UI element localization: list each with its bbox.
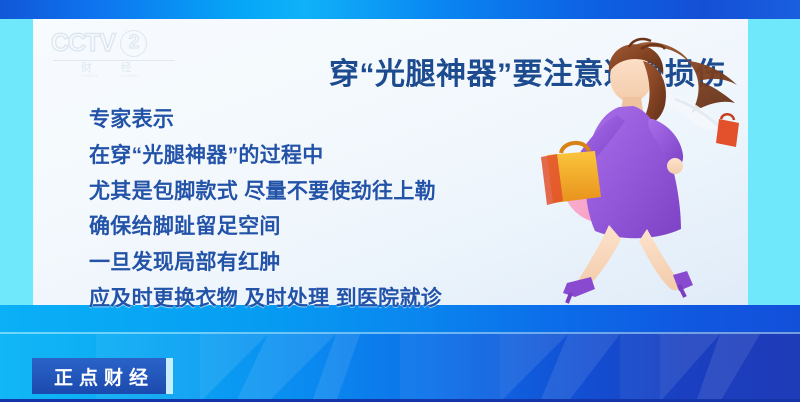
cctv-logo-sub-en-right: CHANNEL: [121, 74, 140, 78]
program-tag-cap: [166, 358, 173, 394]
cctv-logo-text: CCTV: [51, 29, 115, 58]
cctv2-logo: CCTV 2 财 FINANCE 经 CHANNEL: [51, 29, 191, 85]
body-line: 确保给脚趾留足空间: [89, 212, 442, 242]
cctv-logo-sub-en-left: FINANCE: [81, 74, 99, 78]
woman-walking-illustration: [523, 27, 748, 305]
right-hand: [667, 158, 683, 174]
body-line: 尤其是包脚款式 尽量不要使劲往上勒: [89, 177, 442, 207]
program-tag: 正点财经: [32, 358, 170, 394]
small-handbag: [716, 119, 739, 147]
cctv-logo-rule: [53, 60, 175, 61]
cctv-logo-number: 2: [120, 30, 147, 57]
front-leg: [639, 229, 680, 290]
top-gradient-bar: [0, 0, 800, 19]
body-line: 专家表示: [89, 105, 442, 135]
body-line: 应及时更换衣物 及时处理 到医院就诊: [89, 284, 442, 314]
body-line: 在穿“光腿神器”的过程中: [89, 141, 442, 171]
left-cyan-band: [0, 19, 33, 305]
cctv-logo-wordmark: CCTV 2: [51, 29, 191, 58]
small-handbag-handle: [721, 114, 734, 120]
program-tag-label: 正点财经: [48, 363, 154, 390]
cctv-logo-subtitle: 财 FINANCE 经 CHANNEL: [51, 63, 191, 78]
broadcast-screen: CCTV 2 财 FINANCE 经 CHANNEL 穿“光腿神器”要注意避免损…: [0, 0, 800, 402]
dress-body: [585, 106, 681, 238]
right-cyan-band: [748, 19, 800, 305]
back-shoe: [563, 277, 595, 297]
cctv-logo-sub-right-group: 经 CHANNEL: [121, 63, 140, 78]
cctv-logo-sub-left-group: 财 FINANCE: [81, 63, 99, 78]
body-line: 一旦发现局部有红肿: [89, 248, 442, 278]
body-text-block: 专家表示 在穿“光腿神器”的过程中 尤其是包脚款式 尽量不要使劲往上勒 确保给脚…: [89, 105, 442, 314]
content-panel: CCTV 2 财 FINANCE 经 CHANNEL 穿“光腿神器”要注意避免损…: [33, 19, 748, 305]
